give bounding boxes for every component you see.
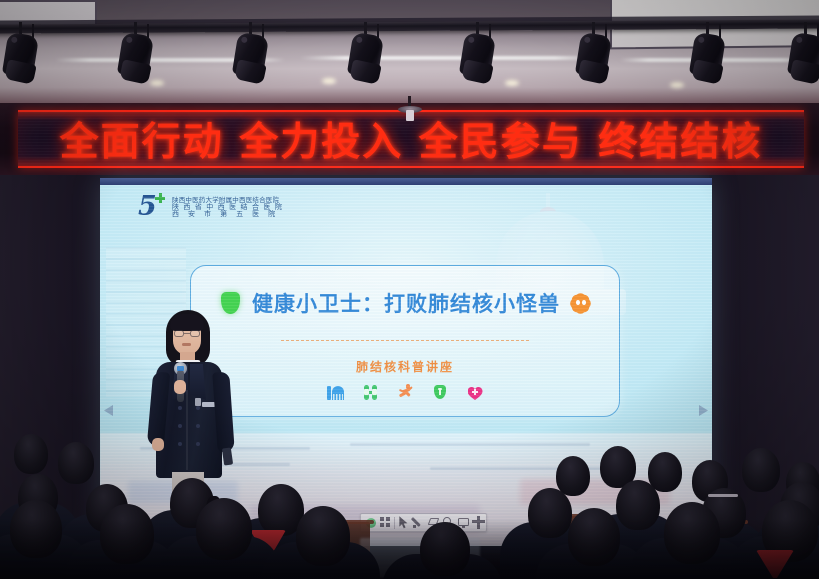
microphone-logo [177, 366, 184, 371]
slide-next-button[interactable] [699, 405, 708, 416]
running-person-icon [397, 384, 414, 401]
presenter-hand-holding-mic [174, 380, 186, 394]
audience-head [420, 522, 470, 576]
hospital-logo-text: 陕西中医药大学附属中西医结合医院 陕 西 省 中 西 医 结 合 医 院 西 安… [172, 197, 283, 219]
presenter-fringe [170, 314, 204, 331]
presenter-mouth [182, 343, 191, 346]
slide-title: 健康小卫士：打败肺结核小怪兽 [252, 288, 560, 318]
audience-head [10, 500, 62, 558]
auditorium-scene: 全面行动 全力投入 全民参与 终结结核 5 [0, 0, 819, 579]
germ-icon [572, 295, 589, 312]
ceiling-downlight [670, 82, 684, 88]
ceiling-strip-light [300, 56, 600, 60]
ceiling-downlight [322, 78, 336, 84]
presenter-emblem [195, 398, 201, 406]
audience-head [58, 442, 94, 484]
audience-head [14, 434, 48, 474]
presenter-glasses [174, 330, 200, 337]
ceiling-truss-area [0, 0, 819, 104]
slide-subtitle: 肺结核科普讲座 [191, 358, 619, 375]
audience [0, 418, 819, 579]
led-glow-bottom [18, 156, 804, 166]
audience-head [742, 448, 780, 492]
hospital-logo-mark: 5 [128, 192, 168, 224]
hospital-name-line3: 西 安 市 第 五 医 院 [172, 211, 283, 218]
ceiling-downlight [150, 80, 164, 86]
audience-head [556, 456, 590, 496]
logo-numeral: 5 [138, 193, 157, 220]
audience-head [616, 480, 660, 530]
slide-prev-button[interactable] [104, 405, 113, 416]
medical-cross-icon [155, 193, 165, 203]
audience-head [196, 498, 252, 560]
audience-head [296, 506, 350, 566]
audience-head [528, 488, 572, 538]
ceiling-downlight [505, 80, 519, 86]
screen-frame-top [100, 178, 712, 185]
slide-title-card: 健康小卫士：打败肺结核小怪兽 肺结核科普讲座 [190, 265, 620, 417]
hospital-icon [327, 384, 344, 401]
audience-head [100, 504, 154, 564]
ceiling-projector-mount [398, 96, 422, 122]
audience-head [568, 508, 620, 566]
exercise-bars-icon [362, 384, 379, 401]
heart-cross-icon [467, 384, 484, 401]
hairband [708, 494, 738, 497]
audience-head [664, 502, 720, 564]
slide-title-row: 健康小卫士：打败肺结核小怪兽 [191, 288, 619, 318]
presenter-name-badge [202, 402, 215, 407]
slide-divider [281, 340, 529, 341]
hospital-logo: 5 陕西中医药大学附属中西医结合医院 陕 西 省 中 西 医 结 合 医 院 西… [128, 191, 288, 225]
slide-icon-row [191, 384, 619, 401]
shield-check-icon [432, 384, 449, 401]
